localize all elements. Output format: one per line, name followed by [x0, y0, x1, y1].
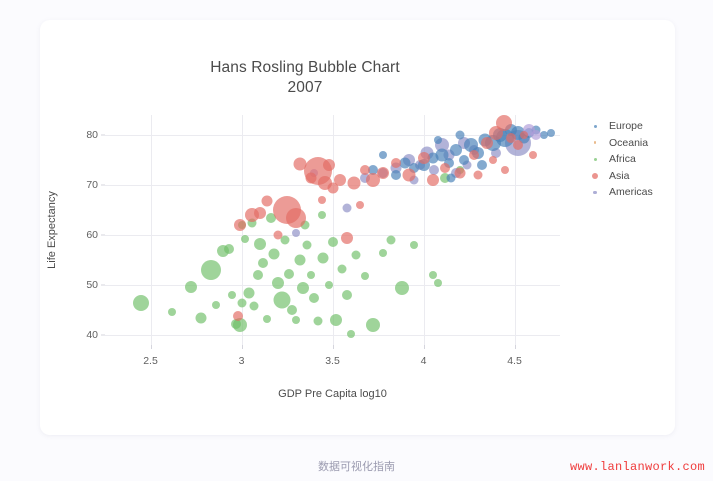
bubble-europe[interactable] [391, 170, 401, 180]
legend-marker-icon [592, 173, 599, 180]
y-tick-mark [101, 235, 105, 236]
bubble-africa[interactable] [379, 249, 387, 257]
x-tick-mark [242, 345, 243, 349]
bubble-africa[interactable] [429, 271, 437, 279]
bubble-africa[interactable] [284, 269, 294, 279]
bubble-africa[interactable] [325, 281, 333, 289]
bubble-africa[interactable] [307, 271, 315, 279]
bubble-africa[interactable] [366, 318, 380, 332]
x-tick-label: 2.5 [143, 355, 158, 367]
bubble-europe[interactable] [459, 155, 469, 165]
legend-item-asia[interactable]: Asia [588, 168, 674, 185]
bubble-africa[interactable] [386, 236, 395, 245]
bubble-asia[interactable] [489, 156, 497, 164]
bubble-africa[interactable] [297, 282, 309, 294]
y-tick-mark [101, 185, 105, 186]
legend-label: Europe [609, 120, 643, 132]
x-tick-mark [424, 345, 425, 349]
bubble-asia[interactable] [529, 151, 537, 159]
bubble-asia[interactable] [348, 176, 361, 189]
bubble-africa[interactable] [309, 293, 319, 303]
x-tick-label: 3 [239, 355, 245, 367]
bubble-africa[interactable] [292, 316, 300, 324]
x-tick-mark [515, 345, 516, 349]
legend-swatch-box [588, 125, 602, 128]
bubble-africa[interactable] [133, 295, 149, 311]
plot-area: 40506070802.533.544.5 [105, 115, 560, 345]
legend-swatch-box [588, 158, 602, 161]
x-axis-title: GDP Pre Capita log10 [105, 388, 560, 400]
bubble-asia[interactable] [474, 171, 483, 180]
bubble-europe[interactable] [455, 131, 464, 140]
legend-swatch-box [588, 191, 602, 194]
legend-swatch-box [588, 141, 602, 144]
bubble-americas[interactable] [292, 229, 300, 237]
y-tick-label: 60 [86, 229, 98, 241]
bubble-africa[interactable] [287, 305, 297, 315]
bubble-africa[interactable] [318, 252, 329, 263]
legend-label: Americas [609, 186, 653, 198]
chart-legend: EuropeOceaniaAfricaAsiaAmericas [588, 118, 674, 201]
bubble-europe[interactable] [434, 136, 442, 144]
bubble-asia[interactable] [418, 152, 430, 164]
bubble-asia[interactable] [454, 167, 465, 178]
bubble-africa[interactable] [201, 260, 221, 280]
bubble-americas[interactable] [343, 203, 352, 212]
bubble-europe[interactable] [477, 160, 487, 170]
chart-title-main: Hans Rosling Bubble Chart [210, 59, 399, 76]
bubble-africa[interactable] [281, 236, 290, 245]
bubble-asia[interactable] [469, 150, 479, 160]
bubble-asia[interactable] [402, 169, 415, 182]
y-axis-title: Life Expectancy [46, 191, 58, 269]
bubble-asia[interactable] [286, 208, 306, 228]
bubble-asia[interactable] [341, 232, 353, 244]
x-tick-label: 4.5 [507, 355, 522, 367]
legend-item-africa[interactable]: Africa [588, 151, 674, 168]
y-tick-mark [101, 135, 105, 136]
bubble-africa[interactable] [254, 238, 266, 250]
y-tick-label: 50 [86, 279, 98, 291]
chart-title: Hans Rosling Bubble Chart 2007 [40, 58, 570, 98]
bubble-africa[interactable] [294, 255, 305, 266]
bubble-africa[interactable] [330, 314, 342, 326]
bubble-asia[interactable] [391, 158, 401, 168]
bubble-asia[interactable] [513, 140, 523, 150]
bubble-africa[interactable] [185, 281, 197, 293]
bubble-africa[interactable] [224, 244, 234, 254]
bubble-africa[interactable] [303, 241, 312, 250]
bubble-asia[interactable] [234, 219, 246, 231]
x-tick-label: 4 [421, 355, 427, 367]
bubble-asia[interactable] [440, 163, 450, 173]
y-tick-label: 80 [86, 129, 98, 141]
bubble-asia[interactable] [377, 167, 389, 179]
chart-subtitle: 2007 [40, 78, 570, 98]
bubble-africa[interactable] [342, 290, 352, 300]
bubble-africa[interactable] [241, 235, 249, 243]
bubble-chart: Hans Rosling Bubble Chart 2007 Life Expe… [40, 20, 675, 435]
bubble-asia[interactable] [233, 311, 243, 321]
bubble-africa[interactable] [347, 330, 355, 338]
legend-item-oceania[interactable]: Oceania [588, 135, 674, 152]
bubble-asia[interactable] [254, 207, 266, 219]
bubble-africa[interactable] [237, 298, 246, 307]
bubble-africa[interactable] [361, 272, 369, 280]
legend-marker-icon [594, 141, 597, 144]
bubble-africa[interactable] [263, 315, 271, 323]
bubble-africa[interactable] [395, 281, 409, 295]
bubble-oceania[interactable] [531, 130, 541, 140]
legend-swatch-box [588, 173, 602, 180]
bubble-africa[interactable] [410, 241, 418, 249]
legend-marker-icon [594, 158, 597, 161]
bubble-africa[interactable] [434, 279, 442, 287]
bubble-africa[interactable] [269, 249, 280, 260]
bubble-africa[interactable] [337, 265, 346, 274]
bubble-asia[interactable] [261, 196, 272, 207]
bubble-asia[interactable] [427, 174, 439, 186]
bubble-africa[interactable] [258, 258, 268, 268]
bubble-africa[interactable] [196, 312, 207, 323]
gridline-vertical [333, 115, 334, 345]
legend-item-americas[interactable]: Americas [588, 184, 674, 201]
y-tick-label: 70 [86, 179, 98, 191]
bubble-africa[interactable] [318, 211, 326, 219]
bubble-africa[interactable] [313, 317, 322, 326]
bubble-africa[interactable] [328, 237, 338, 247]
legend-item-europe[interactable]: Europe [588, 118, 674, 135]
bubble-asia[interactable] [520, 131, 528, 139]
site-watermark: www.lanlanwork.com [570, 460, 705, 474]
bubble-asia[interactable] [501, 166, 509, 174]
x-tick-mark [151, 345, 152, 349]
bubble-africa[interactable] [272, 277, 284, 289]
bubble-africa[interactable] [273, 292, 290, 309]
bubble-africa[interactable] [253, 270, 263, 280]
legend-label: Oceania [609, 137, 648, 149]
x-tick-label: 3.5 [325, 355, 340, 367]
bubble-asia[interactable] [323, 159, 335, 171]
gridline-vertical [151, 115, 152, 345]
bubble-africa[interactable] [168, 308, 176, 316]
bubble-asia[interactable] [496, 115, 512, 131]
legend-label: Asia [609, 170, 629, 182]
y-tick-mark [101, 285, 105, 286]
y-tick-label: 40 [86, 329, 98, 341]
legend-marker-icon [593, 191, 596, 194]
bubble-africa[interactable] [243, 287, 254, 298]
x-tick-mark [333, 345, 334, 349]
bubble-africa[interactable] [212, 301, 220, 309]
legend-label: Africa [609, 153, 636, 165]
bubble-asia[interactable] [273, 231, 282, 240]
bubble-europe[interactable] [547, 129, 555, 137]
bubble-europe[interactable] [379, 151, 387, 159]
chart-card: Hans Rosling Bubble Chart 2007 Life Expe… [40, 20, 675, 435]
bubble-asia[interactable] [318, 196, 326, 204]
legend-marker-icon [594, 125, 597, 128]
bubble-asia[interactable] [334, 174, 346, 186]
bubble-europe[interactable] [450, 144, 462, 156]
bubble-africa[interactable] [352, 251, 361, 260]
bubble-asia[interactable] [356, 201, 364, 209]
bubble-africa[interactable] [228, 291, 236, 299]
bubble-africa[interactable] [250, 302, 259, 311]
y-tick-mark [101, 335, 105, 336]
